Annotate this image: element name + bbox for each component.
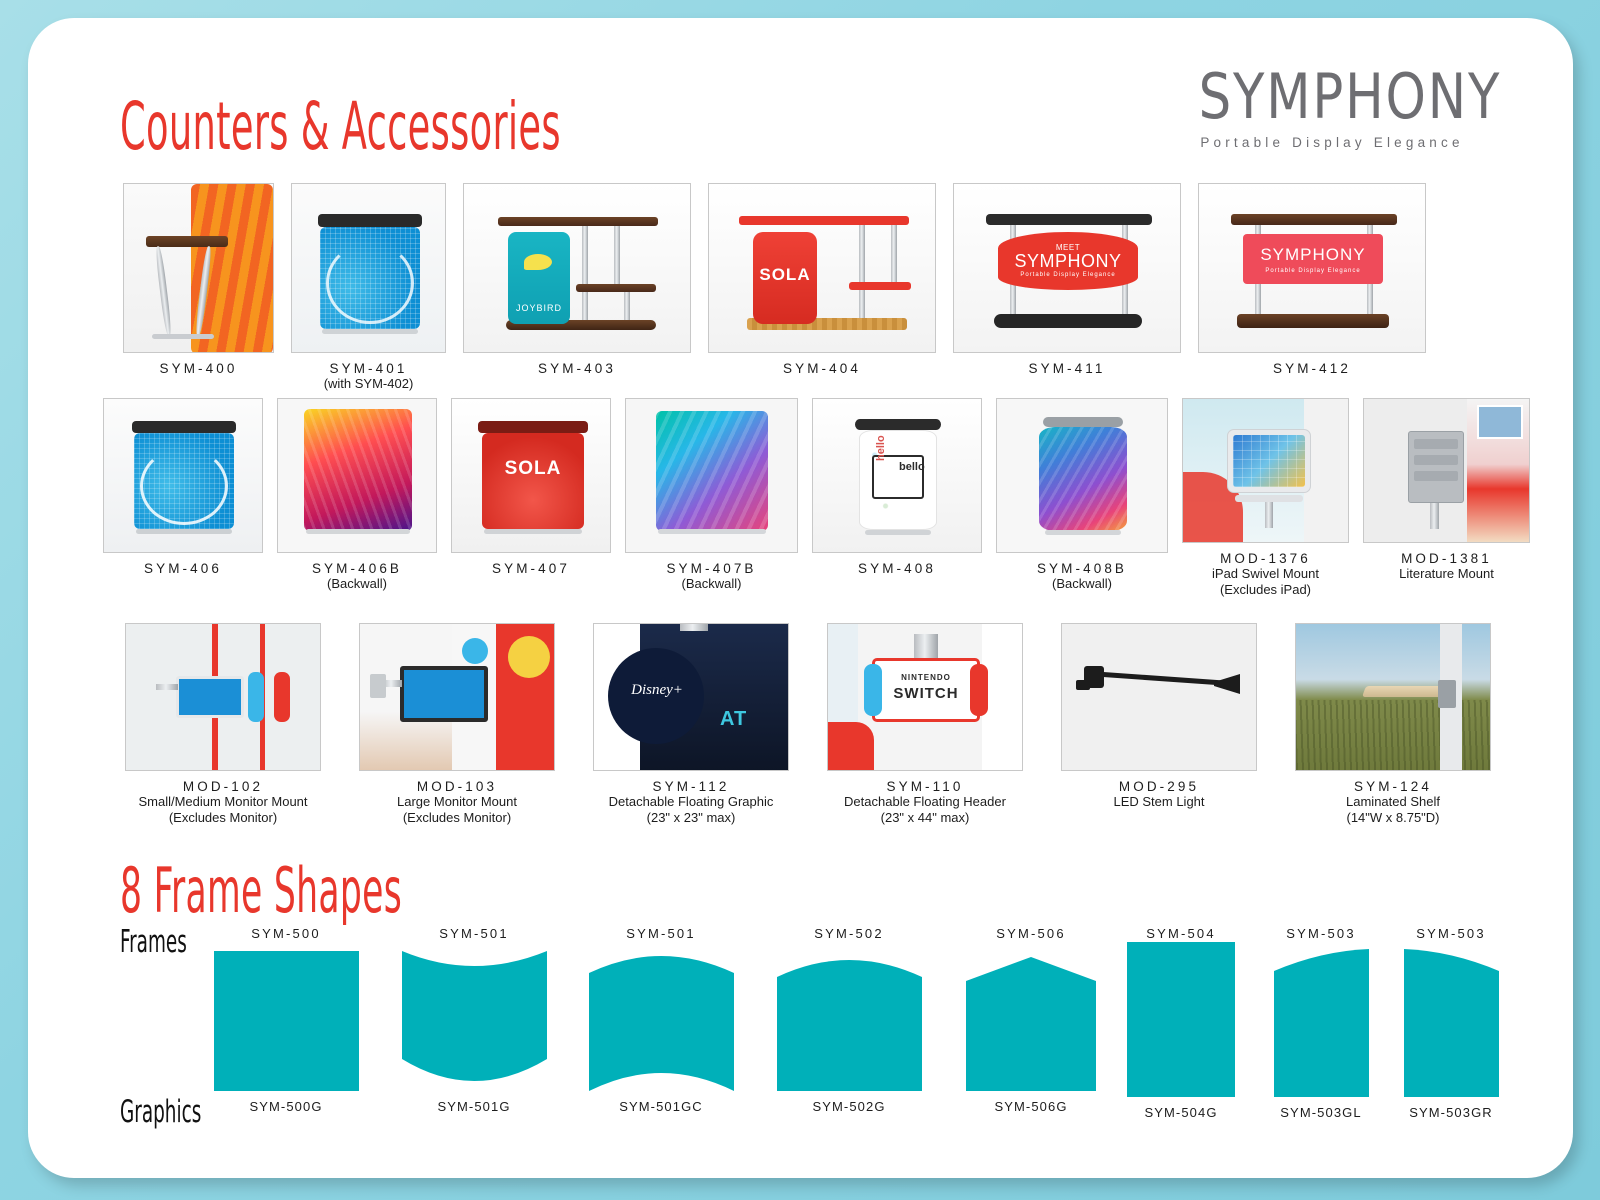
graphic-code: SYM-501G bbox=[394, 1099, 554, 1114]
product-code: SYM-401 bbox=[291, 361, 446, 376]
shape-slant-right bbox=[1404, 949, 1499, 1097]
frame-shape-sym-502[interactable]: SYM-502 SYM-502G bbox=[769, 926, 929, 1114]
frame-shape-sym-500[interactable]: SYM-500 SYM-500G bbox=[206, 926, 366, 1114]
product-note: (23" x 44" max) bbox=[827, 810, 1023, 826]
symphony-logo: SYMPHONY Portable Display Elegance bbox=[1187, 66, 1477, 150]
catalog-page: Counters & Accessories SYMPHONY Portable… bbox=[0, 0, 1600, 1200]
product-thumbnail: Disney+ AT bbox=[593, 623, 789, 771]
product-card-sym-411[interactable]: MEET SYMPHONY Portable Display Elegance … bbox=[953, 183, 1181, 392]
graphic-code: SYM-502G bbox=[769, 1099, 929, 1114]
shape-arched-top bbox=[777, 951, 922, 1091]
graphic-code: SYM-504G bbox=[1111, 1105, 1251, 1120]
frame-code: SYM-502 bbox=[769, 926, 929, 941]
product-row-1: SYM-400 SYM-401 (with SYM-402) bbox=[123, 183, 1426, 392]
product-code: SYM-407B bbox=[625, 561, 798, 576]
frame-code: SYM-503 bbox=[1256, 926, 1386, 941]
page-title-counters-accessories: Counters & Accessories bbox=[120, 88, 561, 165]
product-subtitle: (with SYM-402) bbox=[291, 376, 446, 392]
product-card-sym-403[interactable]: JOYBIRD SYM-403 bbox=[463, 183, 691, 392]
product-card-sym-407b[interactable]: SYM-407B (Backwall) bbox=[625, 398, 798, 598]
frame-code: SYM-501 bbox=[581, 926, 741, 941]
product-card-sym-401[interactable]: SYM-401 (with SYM-402) bbox=[291, 183, 446, 392]
product-thumbnail bbox=[1182, 398, 1349, 543]
shape-convex-top-concave-bottom bbox=[589, 951, 734, 1091]
shape-peaked-top bbox=[966, 951, 1096, 1091]
product-thumbnail bbox=[625, 398, 798, 553]
frame-shape-sym-504[interactable]: SYM-504 SYM-504G bbox=[1111, 926, 1251, 1120]
product-subtitle: iPad Swivel Mount bbox=[1182, 566, 1349, 582]
product-code: SYM-408B bbox=[996, 561, 1168, 576]
product-thumbnail bbox=[1363, 398, 1530, 543]
product-code: MOD-1381 bbox=[1363, 551, 1530, 566]
product-card-sym-112[interactable]: Disney+ AT SYM-112 Detachable Floating G… bbox=[593, 623, 789, 826]
product-subtitle: LED Stem Light bbox=[1061, 794, 1257, 810]
product-note: (Excludes Monitor) bbox=[359, 810, 555, 826]
row-label-graphics: Graphics bbox=[120, 1094, 201, 1130]
frame-shape-sym-501-curved[interactable]: SYM-501 SYM-501GC bbox=[581, 926, 741, 1114]
product-row-3: MOD-102 Small/Medium Monitor Mount (Excl… bbox=[125, 623, 1491, 826]
product-thumbnail bbox=[1295, 623, 1491, 771]
product-thumbnail: MEET SYMPHONY Portable Display Elegance bbox=[953, 183, 1181, 353]
product-code: SYM-412 bbox=[1198, 361, 1426, 376]
frame-shape-sym-503-left[interactable]: SYM-503 SYM-503GL bbox=[1256, 926, 1386, 1120]
product-thumbnail bbox=[277, 398, 437, 553]
product-thumbnail bbox=[291, 183, 446, 353]
product-card-sym-400[interactable]: SYM-400 bbox=[123, 183, 274, 392]
logo-wordmark: SYMPHONY bbox=[1199, 66, 1466, 128]
product-card-sym-404[interactable]: SOLA SYM-404 bbox=[708, 183, 936, 392]
product-code: SYM-403 bbox=[463, 361, 691, 376]
product-subtitle: Literature Mount bbox=[1363, 566, 1530, 582]
product-code: SYM-406B bbox=[277, 561, 437, 576]
product-subtitle: Large Monitor Mount bbox=[359, 794, 555, 810]
product-code: SYM-112 bbox=[593, 779, 789, 794]
product-card-mod-295[interactable]: MOD-295 LED Stem Light bbox=[1061, 623, 1257, 826]
shape-slant-left bbox=[1274, 949, 1369, 1097]
product-note: (Excludes iPad) bbox=[1182, 582, 1349, 598]
product-code: MOD-1376 bbox=[1182, 551, 1349, 566]
product-thumbnail: JOYBIRD bbox=[463, 183, 691, 353]
shape-concave-top-bottom bbox=[402, 951, 547, 1091]
product-code: SYM-110 bbox=[827, 779, 1023, 794]
product-code: MOD-295 bbox=[1061, 779, 1257, 794]
product-card-sym-124[interactable]: SYM-124 Laminated Shelf (14"W x 8.75"D) bbox=[1295, 623, 1491, 826]
page-title-frame-shapes: 8 Frame Shapes bbox=[120, 854, 402, 927]
frame-code: SYM-501 bbox=[394, 926, 554, 941]
graphic-code: SYM-503GR bbox=[1386, 1105, 1516, 1120]
product-thumbnail: hello bello bbox=[812, 398, 982, 553]
frame-shape-sym-503-right[interactable]: SYM-503 SYM-503GR bbox=[1386, 926, 1516, 1120]
logo-tagline: Portable Display Elegance bbox=[1187, 135, 1477, 150]
graphic-code: SYM-506G bbox=[956, 1099, 1106, 1114]
product-subtitle: Detachable Floating Header bbox=[827, 794, 1023, 810]
product-card-mod-103[interactable]: MOD-103 Large Monitor Mount (Excludes Mo… bbox=[359, 623, 555, 826]
product-thumbnail: SOLA bbox=[451, 398, 611, 553]
product-card-sym-412[interactable]: SYMPHONY Portable Display Elegance SYM-4… bbox=[1198, 183, 1426, 392]
product-thumbnail bbox=[125, 623, 321, 771]
white-content-card: Counters & Accessories SYMPHONY Portable… bbox=[28, 18, 1573, 1178]
frame-shape-sym-501[interactable]: SYM-501 SYM-501G bbox=[394, 926, 554, 1114]
row-label-frames: Frames bbox=[120, 924, 187, 960]
product-code: MOD-103 bbox=[359, 779, 555, 794]
product-card-sym-406[interactable]: SYM-406 bbox=[103, 398, 263, 598]
product-code: SYM-407 bbox=[451, 561, 611, 576]
product-card-sym-110[interactable]: NINTENDO SWITCH SYM-110 Detachable Float… bbox=[827, 623, 1023, 826]
product-subtitle: Small/Medium Monitor Mount bbox=[125, 794, 321, 810]
product-subtitle: Laminated Shelf bbox=[1295, 794, 1491, 810]
product-card-mod-102[interactable]: MOD-102 Small/Medium Monitor Mount (Excl… bbox=[125, 623, 321, 826]
frame-code: SYM-504 bbox=[1111, 926, 1251, 941]
frame-code: SYM-500 bbox=[206, 926, 366, 941]
product-card-sym-406b[interactable]: SYM-406B (Backwall) bbox=[277, 398, 437, 598]
product-subtitle: Detachable Floating Graphic bbox=[593, 794, 789, 810]
product-thumbnail: SOLA bbox=[708, 183, 936, 353]
graphic-code: SYM-503GL bbox=[1256, 1105, 1386, 1120]
product-row-2: SYM-406 SYM-406B (Backwall) bbox=[103, 398, 1530, 598]
product-thumbnail: SYMPHONY Portable Display Elegance bbox=[1198, 183, 1426, 353]
product-note: (23" x 23" max) bbox=[593, 810, 789, 826]
product-thumbnail bbox=[996, 398, 1168, 553]
product-thumbnail bbox=[123, 183, 274, 353]
product-subtitle: (Backwall) bbox=[625, 576, 798, 592]
product-thumbnail bbox=[359, 623, 555, 771]
product-subtitle: (Backwall) bbox=[277, 576, 437, 592]
frame-shape-sym-506[interactable]: SYM-506 SYM-506G bbox=[956, 926, 1106, 1114]
product-card-mod-1381[interactable]: MOD-1381 Literature Mount bbox=[1363, 398, 1530, 598]
product-code: SYM-400 bbox=[123, 361, 274, 376]
product-code: SYM-408 bbox=[812, 561, 982, 576]
graphic-code: SYM-500G bbox=[206, 1099, 366, 1114]
frame-code: SYM-506 bbox=[956, 926, 1106, 941]
product-code: SYM-404 bbox=[708, 361, 936, 376]
graphic-code: SYM-501GC bbox=[581, 1099, 741, 1114]
product-code: MOD-102 bbox=[125, 779, 321, 794]
product-code: SYM-124 bbox=[1295, 779, 1491, 794]
product-thumbnail bbox=[1061, 623, 1257, 771]
product-code: SYM-411 bbox=[953, 361, 1181, 376]
product-thumbnail bbox=[103, 398, 263, 553]
product-card-mod-1376[interactable]: MOD-1376 iPad Swivel Mount (Excludes iPa… bbox=[1182, 398, 1349, 598]
product-subtitle: (Backwall) bbox=[996, 576, 1168, 592]
product-code: SYM-406 bbox=[103, 561, 263, 576]
product-thumbnail: NINTENDO SWITCH bbox=[827, 623, 1023, 771]
frame-code: SYM-503 bbox=[1386, 926, 1516, 941]
shape-rect bbox=[214, 951, 359, 1091]
shape-tall-rect bbox=[1127, 942, 1235, 1097]
product-card-sym-407[interactable]: SOLA SYM-407 bbox=[451, 398, 611, 598]
product-note: (Excludes Monitor) bbox=[125, 810, 321, 826]
product-note: (14"W x 8.75"D) bbox=[1295, 810, 1491, 826]
product-card-sym-408b[interactable]: SYM-408B (Backwall) bbox=[996, 398, 1168, 598]
product-card-sym-408[interactable]: hello bello SYM-408 bbox=[812, 398, 982, 598]
